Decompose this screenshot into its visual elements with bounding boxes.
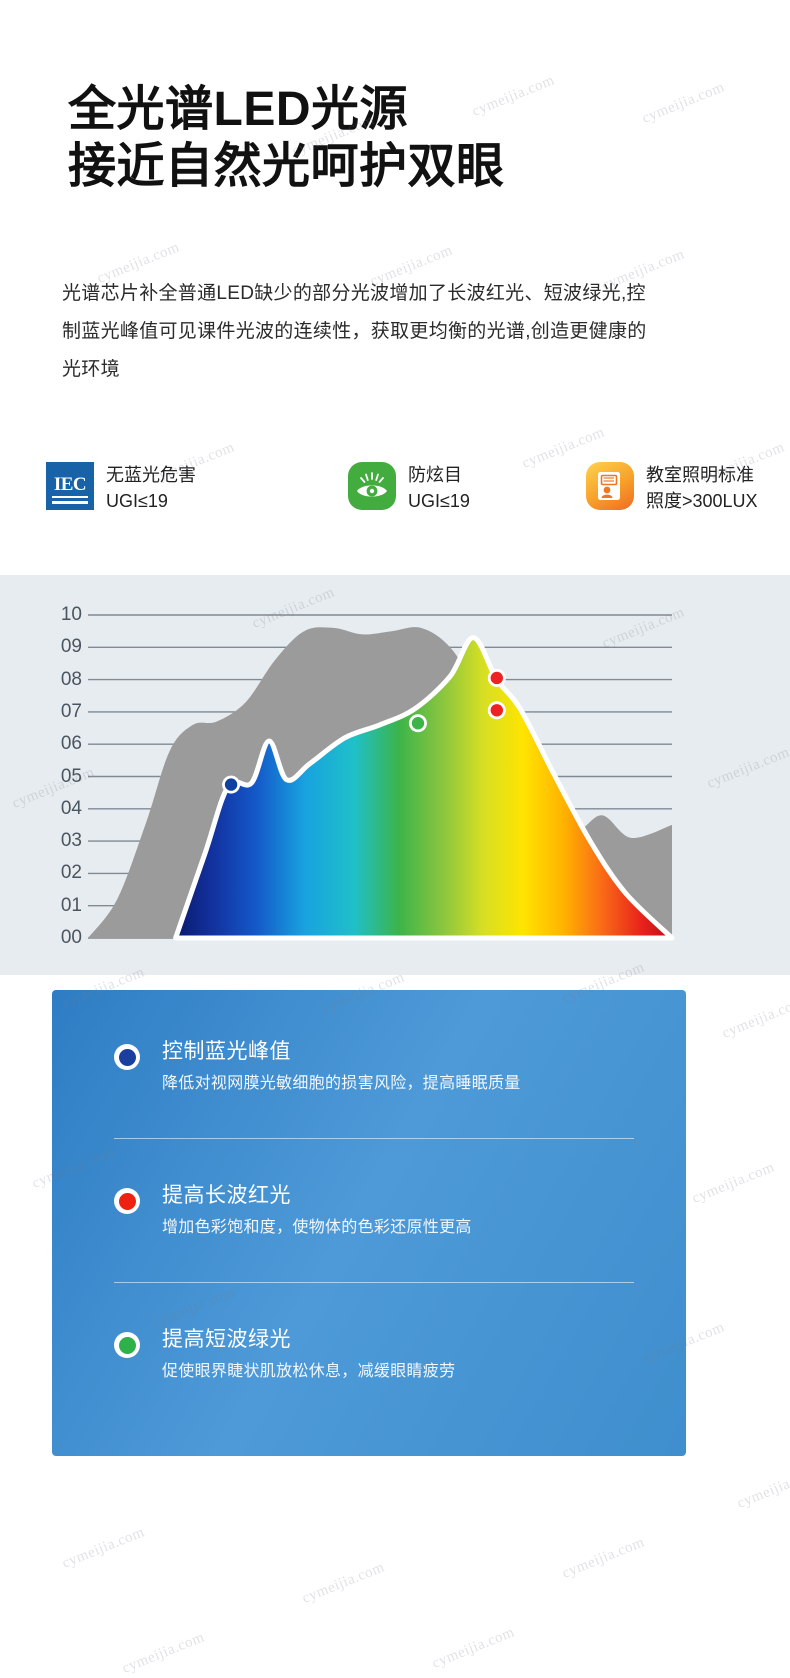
y-axis-label: 08 bbox=[42, 669, 82, 691]
watermark: cymeijia.com bbox=[300, 1559, 387, 1607]
badge-anti-glare: 防炫目 UGI≤19 bbox=[348, 462, 470, 514]
red-marker-high bbox=[491, 672, 503, 684]
y-axis-label: 06 bbox=[42, 733, 82, 755]
badge-text-2: 防炫目 UGI≤19 bbox=[408, 462, 470, 514]
green-dot-icon bbox=[114, 1332, 140, 1358]
watermark: cymeijia.com bbox=[120, 1629, 207, 1677]
y-axis-label: 03 bbox=[42, 830, 82, 852]
eye-anti-glare-icon bbox=[348, 462, 396, 510]
chart-curves bbox=[88, 627, 672, 938]
feature-1-subtext: 降低对视网膜光敏细胞的损害风险，提高睡眠质量 bbox=[162, 1072, 634, 1096]
feature-divider-2 bbox=[114, 1282, 634, 1283]
watermark: cymeijia.com bbox=[735, 1464, 790, 1512]
badge-3-line-1: 教室照明标准 bbox=[646, 465, 754, 485]
badge-2-line-2: UGI≤19 bbox=[408, 488, 470, 514]
watermark: cymeijia.com bbox=[690, 1159, 777, 1207]
green-marker bbox=[412, 717, 424, 729]
red-marker-low bbox=[491, 704, 503, 716]
feature-3-subtext: 促使眼界睫状肌放松休息，减缓眼睛疲劳 bbox=[162, 1360, 634, 1384]
badge-1-line-1: 无蓝光危害 bbox=[106, 465, 196, 485]
iec-icon-bar-upper bbox=[52, 496, 88, 498]
badge-text-1: 无蓝光危害 UGI≤19 bbox=[106, 462, 196, 514]
hero-section: 全光谱LED光源 接近自然光呵护双眼 光谱芯片补全普通LED缺少的部分光波增加了… bbox=[0, 0, 790, 575]
watermark: cymeijia.com bbox=[560, 1534, 647, 1582]
badge-1-line-2: UGI≤19 bbox=[106, 488, 196, 514]
watermark: cymeijia.com bbox=[430, 1624, 517, 1672]
y-axis-label: 10 bbox=[42, 604, 82, 626]
feature-3-heading: 提高短波绿光 bbox=[162, 1326, 634, 1353]
iec-icon-bar-lower bbox=[52, 501, 88, 504]
badge-text-3: 教室照明标准 照度>300LUX bbox=[646, 462, 758, 514]
badge-3-line-2: 照度>300LUX bbox=[646, 488, 758, 514]
classroom-lighting-icon bbox=[586, 462, 634, 510]
blue-dot-icon bbox=[114, 1044, 140, 1070]
feature-2-heading: 提高长波红光 bbox=[162, 1182, 634, 1209]
y-axis-label: 09 bbox=[42, 636, 82, 658]
badge-2-line-1: 防炫目 bbox=[408, 465, 462, 485]
feature-item-red-light: 提高长波红光 增加色彩饱和度，使物体的色彩还原性更高 bbox=[114, 1182, 634, 1240]
hero-description: 光谱芯片补全普通LED缺少的部分光波增加了长波红光、短波绿光,控制蓝光峰值可见课… bbox=[62, 275, 662, 389]
certification-badges: IEC 无蓝光危害 UGI≤19 bbox=[46, 462, 762, 532]
watermark: cymeijia.com bbox=[720, 994, 790, 1042]
spectrum-chart: 1009080706050403020100 全光谱LED 普通LED bbox=[0, 575, 790, 975]
y-axis-label: 02 bbox=[42, 862, 82, 884]
y-axis-label: 00 bbox=[42, 927, 82, 949]
watermark: cymeijia.com bbox=[60, 1524, 147, 1572]
feature-2-subtext: 增加色彩饱和度，使物体的色彩还原性更高 bbox=[162, 1216, 634, 1240]
feature-1-heading: 控制蓝光峰值 bbox=[162, 1038, 634, 1065]
y-axis-label: 01 bbox=[42, 895, 82, 917]
feature-card: 控制蓝光峰值 降低对视网膜光敏细胞的损害风险，提高睡眠质量 提高长波红光 增加色… bbox=[52, 990, 686, 1456]
y-axis-label: 07 bbox=[42, 701, 82, 723]
blue-peak-marker bbox=[225, 778, 237, 790]
page-title: 全光谱LED光源 接近自然光呵护双眼 bbox=[68, 82, 505, 195]
spectrum-chart-panel: 1009080706050403020100 全光谱LED 普通LED bbox=[0, 575, 790, 975]
iec-certification-icon: IEC bbox=[46, 462, 94, 510]
feature-divider-1 bbox=[114, 1138, 634, 1139]
feature-item-blue-peak: 控制蓝光峰值 降低对视网膜光敏细胞的损害风险，提高睡眠质量 bbox=[114, 1038, 634, 1096]
y-axis-label: 05 bbox=[42, 766, 82, 788]
title-line-1: 全光谱LED光源 bbox=[68, 83, 408, 136]
product-detail-page: 全光谱LED光源 接近自然光呵护双眼 光谱芯片补全普通LED缺少的部分光波增加了… bbox=[0, 0, 790, 1663]
spectrum-chart-svg bbox=[0, 575, 790, 975]
feature-item-green-light: 提高短波绿光 促使眼界睫状肌放松休息，减缓眼睛疲劳 bbox=[114, 1326, 634, 1384]
red-dot-icon bbox=[114, 1188, 140, 1214]
badge-classroom-standard: 教室照明标准 照度>300LUX bbox=[586, 462, 758, 514]
title-line-2: 接近自然光呵护双眼 bbox=[68, 139, 505, 196]
badge-no-blue-light-hazard: IEC 无蓝光危害 UGI≤19 bbox=[46, 462, 196, 514]
y-axis-label: 04 bbox=[42, 798, 82, 820]
iec-icon-label: IEC bbox=[54, 475, 86, 494]
